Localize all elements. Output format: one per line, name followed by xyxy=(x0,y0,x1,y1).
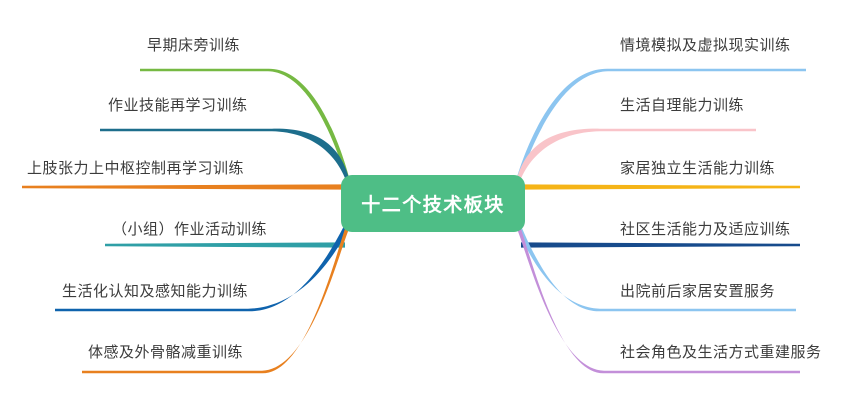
branch-ribbon xyxy=(22,184,345,189)
mind-map-canvas: 十二个技术板块 早期床旁训练 作业技能再学习训练 上肢张力上中枢控制再学习训练 … xyxy=(0,0,850,403)
central-topic-node[interactable]: 十二个技术板块 xyxy=(341,175,525,232)
branch-label-left-5[interactable]: 生活化认知及感知能力训练 xyxy=(62,284,248,299)
branch-ribbon xyxy=(521,242,800,247)
branch-label-left-4[interactable]: （小组）作业活动训练 xyxy=(112,222,267,237)
branch-label-right-1[interactable]: 情境模拟及虚拟现实训练 xyxy=(620,38,791,53)
branch-label-left-1[interactable]: 早期床旁训练 xyxy=(147,38,240,53)
branch-label-left-3[interactable]: 上肢张力上中枢控制再学习训练 xyxy=(27,161,244,176)
branch-label-left-6[interactable]: 体感及外骨骼减重训练 xyxy=(88,345,243,360)
branch-label-right-2[interactable]: 生活自理能力训练 xyxy=(620,98,744,113)
central-topic-label: 十二个技术板块 xyxy=(361,190,505,217)
branch-ribbon xyxy=(105,242,345,247)
branch-label-left-2[interactable]: 作业技能再学习训练 xyxy=(108,98,248,113)
branch-label-right-4[interactable]: 社区生活能力及适应训练 xyxy=(620,222,791,237)
branch-ribbon xyxy=(521,184,800,189)
branch-label-right-6[interactable]: 社会角色及生活方式重建服务 xyxy=(620,345,822,360)
branch-label-right-3[interactable]: 家居独立生活能力训练 xyxy=(620,161,775,176)
branch-label-right-5[interactable]: 出院前后家居安置服务 xyxy=(620,284,775,299)
